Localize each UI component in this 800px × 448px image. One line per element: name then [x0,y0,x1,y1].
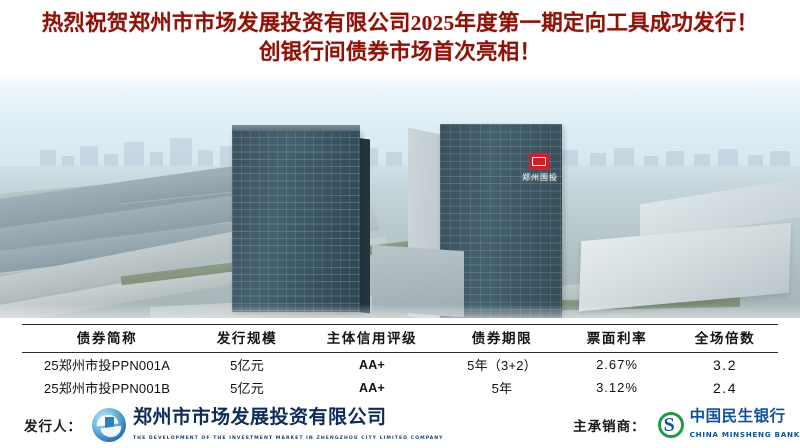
logo-s-glyph: S [664,414,675,436]
issuer-label: 发行人： [24,415,82,435]
column-header-coupon-rate: 票面利率 [562,325,672,353]
distant-skyline [0,120,800,172]
issuer-name-en: THE DEVELOPMENT OF THE INVESTMENT MARKET… [133,436,444,441]
cell-credit-rating: AA+ [302,353,442,377]
cell-issue-size: 5亿元 [192,353,302,377]
cell-subscription-multiple: 2.4 [672,376,778,399]
issuer-name-cn: 郑州市市场发展投资有限公司 [133,407,387,428]
cell-bond-name: 25郑州市投PPN001A [22,353,192,377]
issuer-swirl-logo-icon [92,408,126,442]
issuer-group: 发行人： 郑州市市场发展投资有限公司 THE DEVELOPMENT OF TH… [24,408,478,443]
cell-credit-rating: AA+ [302,376,442,399]
table-header-row: 债券简称 发行规模 主体信用评级 债券期限 票面利率 全场倍数 [22,325,778,353]
underwriter-wordmark: 中国民生银行 CHINA MINSHENG BANK [690,409,800,441]
swirl-bottom-arc [100,426,122,439]
headline-line-2: 创银行间债券市场首次亮相！ [259,38,541,67]
cell-bond-name: 25郑州市投PPN001B [22,376,192,399]
promotional-poster: 热烈祝贺郑州市市场发展投资有限公司2025年度第一期定向工具成功发行！ 创银行间… [0,0,800,448]
cell-coupon-rate: 3.12% [562,376,672,399]
cell-subscription-multiple: 3.2 [672,353,778,377]
underwriter-group: 主承销商： S 中国民生银行 CHINA MINSHENG BANK [573,409,800,441]
issuer-wordmark: 郑州市市场发展投资有限公司 THE DEVELOPMENT OF THE INV… [133,408,478,443]
tower-roof-cap [232,125,360,131]
table-row: 25郑州市投PPN001A 5亿元 AA+ 5年（3+2） 2.67% 3.2 [22,353,778,377]
column-header-subscription-multiple: 全场倍数 [672,325,778,353]
underwriter-name-en: CHINA MINSHENG BANK [690,430,800,439]
info-panel: 债券简称 发行规模 主体信用评级 债券期限 票面利率 全场倍数 25郑州市投PP… [0,318,800,448]
cell-bond-term: 5年 [442,376,562,399]
column-header-bond-term: 债券期限 [442,325,562,353]
headline-banner: 热烈祝贺郑州市市场发展投资有限公司2025年度第一期定向工具成功发行！ 创银行间… [0,0,800,76]
minsheng-bank-logo-icon: S [658,412,684,438]
cell-bond-term: 5年（3+2） [442,353,562,377]
table-row: 25郑州市投PPN001B 5亿元 AA+ 5年 3.12% 2.4 [22,376,778,399]
bond-details-table: 债券简称 发行规模 主体信用评级 债券期限 票面利率 全场倍数 25郑州市投PP… [22,324,778,399]
column-header-bond-name: 债券简称 [22,325,192,353]
glass-office-tower [232,130,360,312]
company-logo-sign-icon [529,154,549,169]
building-sign-text: 郑州国投 [510,172,570,183]
footer-bar: 发行人： 郑州市市场发展投资有限公司 THE DEVELOPMENT OF TH… [0,402,800,448]
column-header-credit-rating: 主体信用评级 [302,325,442,353]
underwriter-name-cn: 中国民生银行 [690,408,786,425]
column-header-issue-size: 发行规模 [192,325,302,353]
cell-issue-size: 5亿元 [192,376,302,399]
aerial-city-photo: 郑州国投 [0,62,800,320]
underwriter-label: 主承销商： [573,415,646,435]
headline-line-1: 热烈祝贺郑州市市场发展投资有限公司2025年度第一期定向工具成功发行！ [42,9,759,38]
cell-coupon-rate: 2.67% [562,353,672,377]
